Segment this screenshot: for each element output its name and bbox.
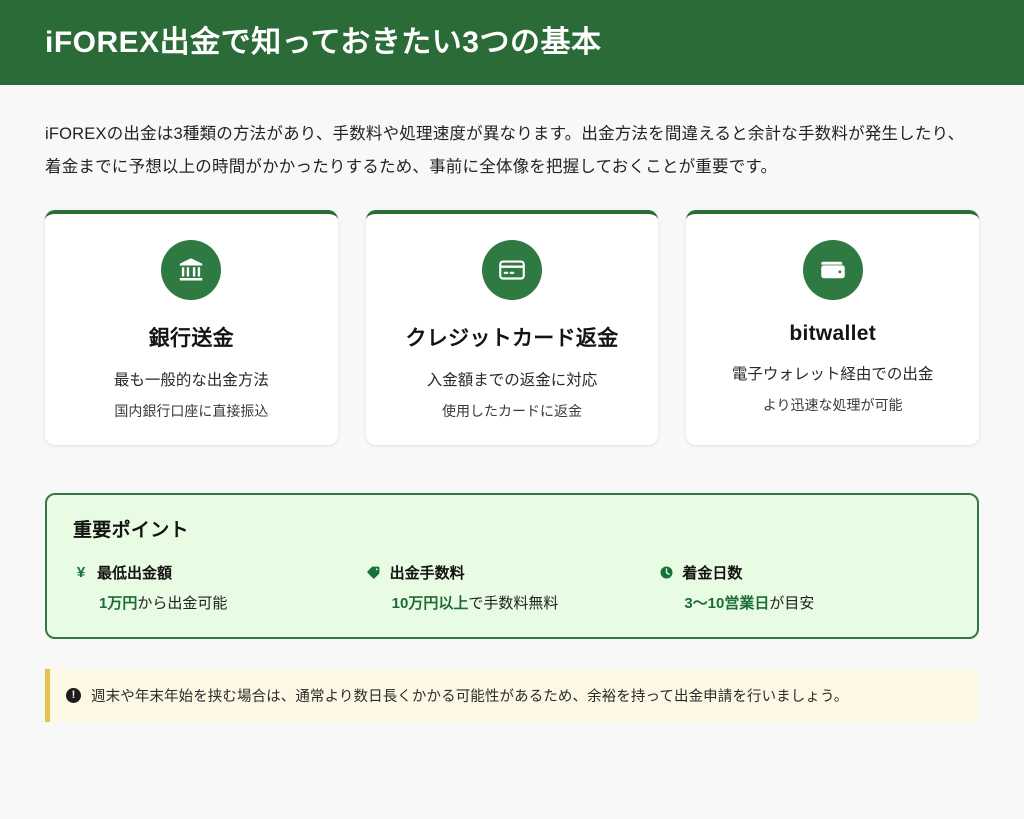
key-point-value: 10万円以上で手数料無料 — [366, 592, 659, 613]
key-point-value-rest: から出金可能 — [137, 595, 227, 612]
key-point-value-rest: が目安 — [769, 595, 814, 612]
infographic-page: iFOREX出金で知っておきたい3つの基本 iFOREXの出金は3種類の方法があ… — [0, 0, 1024, 819]
warning-note-text: 週末や年末年始を挟む場合は、通常より数日長くかかる可能性があるため、余裕を持って… — [91, 685, 848, 706]
key-point-processing-days: 着金日数 3〜10営業日が目安 — [658, 562, 951, 613]
key-point-value-rest: で手数料無料 — [468, 595, 558, 612]
key-point-header: 着金日数 — [658, 562, 951, 583]
key-point-value: 1万円から出金可能 — [73, 592, 366, 613]
key-points-grid: ¥ 最低出金額 1万円から出金可能 出金手数料 10万円以上で手数料無料 — [73, 562, 951, 613]
method-card-credit-card[interactable]: クレジットカード返金 入金額までの返金に対応 使用したカードに返金 — [366, 210, 659, 445]
key-point-header: 出金手数料 — [366, 562, 659, 583]
method-card-bank[interactable]: 銀行送金 最も一般的な出金方法 国内銀行口座に直接振込 — [45, 210, 338, 445]
key-point-value-highlight: 10万円以上 — [392, 595, 469, 612]
method-card-bitwallet[interactable]: bitwallet 電子ウォレット経由での出金 より迅速な処理が可能 — [686, 210, 979, 445]
key-point-value-highlight: 3〜10営業日 — [684, 595, 769, 612]
page-header: iFOREX出金で知っておきたい3つの基本 — [0, 0, 1024, 88]
key-points-heading: 重要ポイント — [73, 515, 951, 542]
card-title: bitwallet — [700, 322, 965, 346]
key-point-minimum-amount: ¥ 最低出金額 1万円から出金可能 — [73, 562, 366, 613]
card-title: 銀行送金 — [59, 322, 324, 352]
card-description-primary: 入金額までの返金に対応 — [380, 368, 645, 390]
warning-note: ! 週末や年末年始を挟む場合は、通常より数日長くかかる可能性があるため、余裕を持… — [45, 669, 979, 722]
key-points-box: 重要ポイント ¥ 最低出金額 1万円から出金可能 出金手数 — [45, 493, 979, 639]
key-point-header: ¥ 最低出金額 — [73, 562, 366, 583]
clock-icon — [658, 565, 674, 581]
key-point-label: 最低出金額 — [97, 562, 172, 583]
method-cards: 銀行送金 最も一般的な出金方法 国内銀行口座に直接振込 クレジットカード返金 入… — [45, 210, 979, 445]
tag-icon — [366, 565, 382, 581]
card-description-secondary: 使用したカードに返金 — [380, 401, 645, 421]
card-title: クレジットカード返金 — [380, 322, 645, 352]
wallet-icon — [803, 240, 863, 300]
key-point-label: 着金日数 — [682, 562, 742, 583]
card-description-primary: 最も一般的な出金方法 — [59, 368, 324, 390]
exclamation-icon: ! — [66, 688, 81, 703]
card-description-secondary: 国内銀行口座に直接振込 — [59, 401, 324, 421]
credit-card-icon — [482, 240, 542, 300]
bank-icon — [161, 240, 221, 300]
yen-icon: ¥ — [73, 565, 89, 581]
key-point-value: 3〜10営業日が目安 — [658, 592, 951, 613]
key-point-value-highlight: 1万円 — [99, 595, 137, 612]
card-description-secondary: より迅速な処理が可能 — [700, 395, 965, 415]
key-point-label: 出金手数料 — [390, 562, 465, 583]
intro-paragraph: iFOREXの出金は3種類の方法があり、手数料や処理速度が異なります。出金方法を… — [45, 118, 979, 184]
key-point-withdrawal-fee: 出金手数料 10万円以上で手数料無料 — [366, 562, 659, 613]
page-title: iFOREX出金で知っておきたい3つの基本 — [45, 26, 601, 59]
card-description-primary: 電子ウォレット経由での出金 — [700, 362, 965, 384]
